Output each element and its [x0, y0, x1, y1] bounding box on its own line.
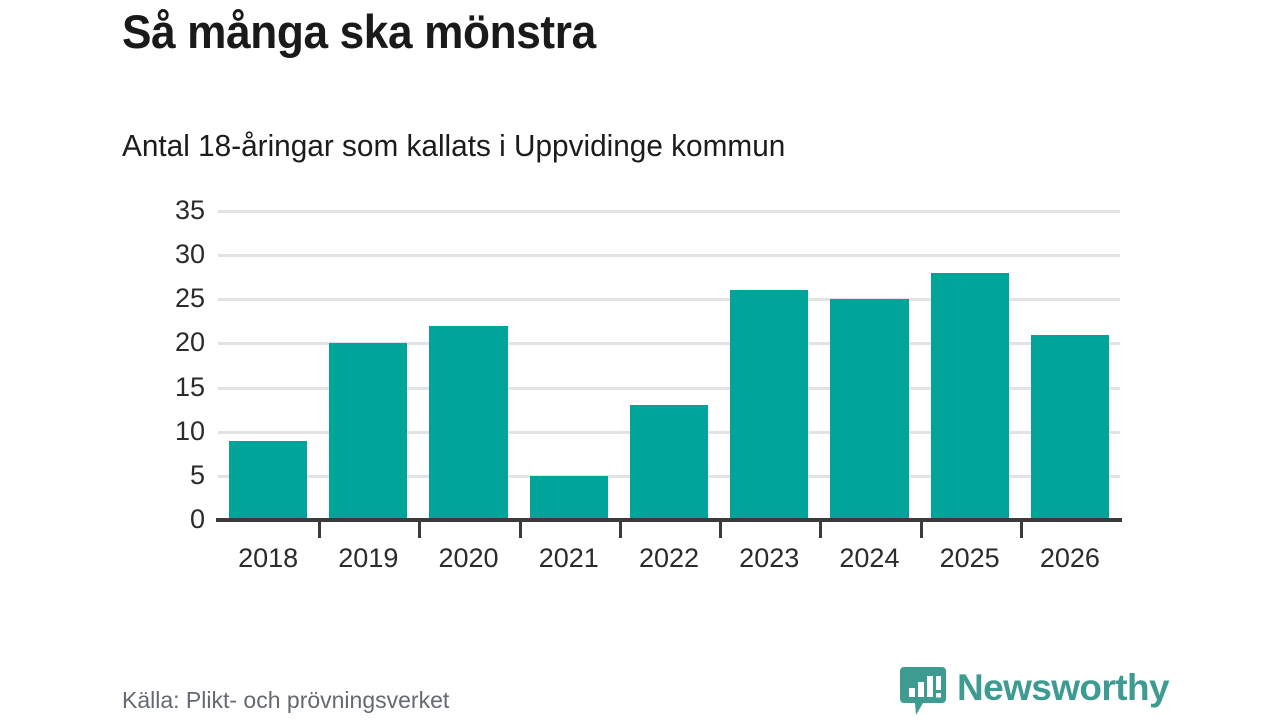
x-tick-mark	[318, 522, 321, 538]
x-tick-mark	[819, 522, 822, 538]
x-tick-label: 2019	[318, 541, 418, 575]
bar[interactable]	[830, 299, 908, 520]
bar[interactable]	[730, 290, 808, 520]
x-tick-label: 2023	[719, 541, 819, 575]
x-tick-label: 2025	[920, 541, 1020, 575]
y-tick-label: 20	[145, 329, 205, 356]
x-tick-mark	[619, 522, 622, 538]
chart-title: Så många ska mönstra	[122, 2, 596, 62]
source-note: Källa: Plikt- och prövningsverket	[122, 687, 449, 714]
x-tick-mark	[1020, 522, 1023, 538]
chart-subtitle: Antal 18-åringar som kallats i Uppviding…	[122, 124, 785, 168]
bar[interactable]	[931, 273, 1009, 520]
y-tick-label: 5	[145, 462, 205, 489]
newsworthy-logo[interactable]: Newsworthy	[899, 666, 1169, 718]
y-tick-label: 25	[145, 285, 205, 312]
x-tick-label: 2018	[218, 541, 318, 575]
x-tick-label: 2021	[519, 541, 619, 575]
x-tick-label: 2026	[1020, 541, 1120, 575]
y-tick-label: 0	[145, 506, 205, 533]
bar[interactable]	[530, 476, 608, 520]
bars-container	[218, 211, 1120, 520]
y-tick-label: 35	[145, 197, 205, 224]
x-tick-label: 2020	[418, 541, 518, 575]
x-tick-mark	[719, 522, 722, 538]
x-tick-label: 2024	[819, 541, 919, 575]
x-tick-mark	[519, 522, 522, 538]
y-tick-label: 10	[145, 418, 205, 445]
x-axis-line	[216, 518, 1122, 522]
bar[interactable]	[229, 441, 307, 520]
y-tick-label: 30	[145, 241, 205, 268]
x-tick-mark	[920, 522, 923, 538]
x-tick-label: 2022	[619, 541, 719, 575]
bar[interactable]	[329, 343, 407, 520]
bar-chart-speech-bubble-icon	[899, 666, 947, 718]
x-tick-mark	[418, 522, 421, 538]
bar[interactable]	[1031, 335, 1109, 520]
y-tick-label: 15	[145, 374, 205, 401]
newsworthy-wordmark: Newsworthy	[957, 666, 1169, 710]
bar[interactable]	[429, 326, 507, 520]
chart-figure: Så många ska mönstra Antal 18-åringar so…	[0, 0, 1280, 720]
bar[interactable]	[630, 405, 708, 520]
